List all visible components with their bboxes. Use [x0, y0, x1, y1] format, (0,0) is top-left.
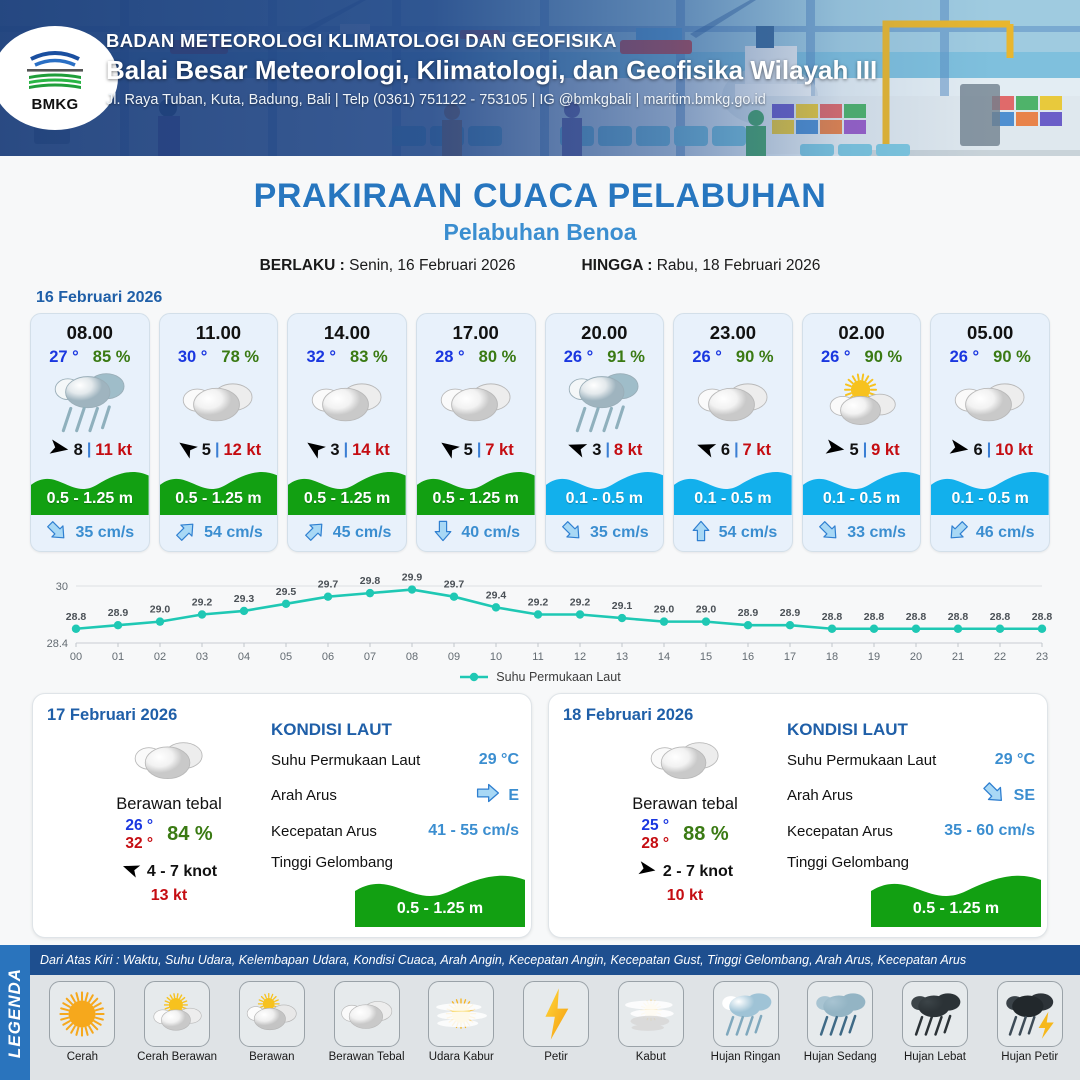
- card-temperature: 26 °: [564, 348, 594, 367]
- sea-condition-row: Suhu Permukaan Laut 29 °C: [271, 749, 519, 771]
- weather-cloud-icon: [288, 369, 406, 435]
- sea-condition-label: Kecepatan Arus: [271, 823, 377, 840]
- weather-cloud-icon: [674, 369, 792, 435]
- current-direction-arrow-icon: [174, 519, 198, 548]
- svg-text:29.2: 29.2: [192, 597, 213, 609]
- berlaku-group: BERLAKU : Senin, 16 Februari 2026: [260, 257, 516, 275]
- legend-icon-row: Cerah Cerah Berawan Berawan: [30, 975, 1080, 1080]
- svg-text:29.0: 29.0: [654, 604, 675, 616]
- svg-text:23: 23: [1036, 651, 1048, 663]
- legend-item: Kabut: [604, 981, 697, 1063]
- sst-chart: 3028.40001020304050607080910111213141516…: [28, 564, 1052, 669]
- header-text-block: BADAN METEOROLOGI KLIMATOLOGI DAN GEOFIS…: [106, 30, 877, 108]
- wind-direction-arrow-icon: [637, 859, 657, 884]
- card-temp-humidity: 30 ° 78 %: [160, 348, 278, 367]
- weather-cloud-icon: [69, 734, 269, 791]
- day-panel: 17 Februari 2026 Berawan tebal 26 ° 32 °…: [32, 693, 532, 938]
- legend-item-label: Hujan Sedang: [804, 1051, 877, 1063]
- card-temperature: 28 °: [435, 348, 465, 367]
- day-panel: 18 Februari 2026 Berawan tebal 25 ° 28 °…: [548, 693, 1048, 938]
- card-wave-band: 0.5 - 1.25 m: [288, 463, 406, 515]
- legend-item: Hujan Petir: [983, 981, 1076, 1063]
- sea-condition-value: 41 - 55 cm/s: [428, 822, 519, 840]
- sea-condition-label: Suhu Permukaan Laut: [271, 752, 420, 769]
- card-wind-row: 6 | 7 kt: [674, 435, 792, 465]
- berlaku-label: BERLAKU :: [260, 257, 345, 274]
- svg-text:28.9: 28.9: [738, 607, 759, 619]
- current-direction-arrow-icon: [946, 519, 970, 548]
- legend-item-label: Udara Kabur: [429, 1051, 494, 1063]
- wind-speed: 5: [850, 441, 859, 460]
- panel-gust: 13 kt: [69, 887, 269, 905]
- card-temperature: 30 °: [178, 348, 208, 367]
- forecast-card-row: 08.00 27 ° 85 % 8 | 11 kt 0.5 - 1.25 m: [0, 313, 1080, 552]
- svg-text:16: 16: [742, 651, 754, 663]
- port-name: Pelabuhan Benoa: [0, 219, 1080, 246]
- wind-direction-arrow-icon: [695, 437, 717, 464]
- svg-text:29.8: 29.8: [360, 575, 381, 587]
- sea-condition-label: Arah Arus: [271, 787, 337, 804]
- svg-text:29.0: 29.0: [150, 604, 171, 616]
- card-time: 14.00: [288, 314, 406, 344]
- svg-text:28.8: 28.8: [990, 611, 1011, 623]
- legend-lightning-icon: [523, 981, 589, 1047]
- panel-sea-block: KONDISI LAUT Suhu Permukaan Laut 29 °C A…: [271, 720, 519, 873]
- panel-temp-min: 25 °: [641, 817, 669, 835]
- svg-text:30: 30: [56, 581, 68, 593]
- svg-text:28.8: 28.8: [948, 611, 969, 623]
- legend-item: Berawan: [225, 981, 318, 1063]
- legend-item-label: Hujan Lebat: [904, 1051, 966, 1063]
- legend-side-label: LEGENDA: [5, 967, 25, 1057]
- current-speed: 54 cm/s: [204, 524, 263, 542]
- wind-separator: |: [215, 441, 219, 459]
- legend-item: Hujan Lebat: [889, 981, 982, 1063]
- wave-height: 0.1 - 0.5 m: [931, 490, 1049, 508]
- panel-wave-band: 0.5 - 1.25 m: [871, 865, 1041, 927]
- card-current-row: 54 cm/s: [674, 515, 792, 551]
- page-header: BMKG BADAN METEOROLOGI KLIMATOLOGI DAN G…: [0, 0, 1080, 156]
- svg-text:29.9: 29.9: [402, 572, 423, 584]
- svg-text:08: 08: [406, 651, 418, 663]
- card-wind-row: 3 | 8 kt: [546, 435, 664, 465]
- card-current-row: 35 cm/s: [546, 515, 664, 551]
- svg-text:02: 02: [154, 651, 166, 663]
- current-speed: 33 cm/s: [847, 524, 906, 542]
- gust-speed: 11 kt: [95, 441, 132, 460]
- legend-sun-icon: [49, 981, 115, 1047]
- sea-conditions-title: KONDISI LAUT: [271, 720, 519, 740]
- panel-temp-max: 28 °: [641, 835, 669, 853]
- current-speed: 54 cm/s: [719, 524, 778, 542]
- legend-item-label: Cerah Berawan: [137, 1051, 217, 1063]
- weather-cloud-icon: [417, 369, 535, 435]
- legend-item: Cerah: [36, 981, 129, 1063]
- card-wind-row: 5 | 9 kt: [803, 435, 921, 465]
- svg-text:28.4: 28.4: [47, 638, 68, 650]
- svg-text:28.8: 28.8: [822, 611, 843, 623]
- legend-item-label: Petir: [544, 1051, 568, 1063]
- card-wind-row: 6 | 10 kt: [931, 435, 1049, 465]
- svg-text:11: 11: [532, 651, 543, 663]
- current-speed: 46 cm/s: [976, 524, 1035, 542]
- forecast-card: 05.00 26 ° 90 % 6 | 10 kt 0.1 - 0.5 m 46…: [930, 313, 1050, 552]
- svg-text:05: 05: [280, 651, 292, 663]
- card-temperature: 32 °: [306, 348, 336, 367]
- wind-direction-arrow-icon: [824, 437, 846, 464]
- panel-wind-speed: 4 - 7 knot: [147, 863, 217, 881]
- wind-speed: 6: [974, 441, 983, 460]
- weather-rain-cloud-icon: [31, 369, 149, 435]
- panel-gust: 10 kt: [585, 887, 785, 905]
- legend-item: Hujan Ringan: [699, 981, 792, 1063]
- wave-height: 0.5 - 1.25 m: [417, 490, 535, 508]
- svg-text:18: 18: [826, 651, 838, 663]
- forecast-card: 14.00 32 ° 83 % 3 | 14 kt 0.5 - 1.25 m 4…: [287, 313, 407, 552]
- svg-text:21: 21: [952, 651, 964, 663]
- card-temp-humidity: 26 ° 90 %: [674, 348, 792, 367]
- sea-condition-row: Arah Arus E: [271, 780, 519, 811]
- sea-condition-value: 29 °C: [995, 751, 1035, 769]
- svg-text:15: 15: [700, 651, 712, 663]
- card-time: 20.00: [546, 314, 664, 344]
- wind-direction-arrow-icon: [948, 437, 970, 464]
- hingga-label: HINGGA :: [581, 257, 652, 274]
- wind-direction-arrow-icon: [304, 437, 326, 464]
- legend-item: Petir: [510, 981, 603, 1063]
- forecast-card: 23.00 26 ° 90 % 6 | 7 kt 0.1 - 0.5 m 54 …: [673, 313, 793, 552]
- card-wave-band: 0.1 - 0.5 m: [674, 463, 792, 515]
- card-wave-band: 0.5 - 1.25 m: [417, 463, 535, 515]
- wind-separator: |: [734, 441, 738, 459]
- sea-condition-value: SE: [1014, 787, 1035, 805]
- berlaku-value: Senin, 16 Februari 2026: [349, 257, 515, 274]
- sea-condition-row: Suhu Permukaan Laut 29 °C: [787, 749, 1035, 771]
- card-temperature: 26 °: [692, 348, 722, 367]
- card-humidity: 90 %: [865, 348, 903, 367]
- card-wave-band: 0.5 - 1.25 m: [31, 463, 149, 515]
- svg-text:19: 19: [868, 651, 880, 663]
- panel-left-block: Berawan tebal 26 ° 32 ° 84 % 4 - 7 knot …: [69, 734, 269, 905]
- svg-text:29.0: 29.0: [696, 604, 717, 616]
- legend-item-label: Berawan: [249, 1051, 294, 1063]
- wave-height: 0.1 - 0.5 m: [803, 490, 921, 508]
- wind-direction-arrow-icon: [176, 437, 198, 464]
- gust-speed: 7 kt: [743, 441, 771, 460]
- card-current-row: 45 cm/s: [288, 515, 406, 551]
- legend-item: Udara Kabur: [415, 981, 508, 1063]
- forecast-date-label: 16 Februari 2026: [36, 289, 1080, 307]
- card-humidity: 90 %: [993, 348, 1031, 367]
- card-humidity: 80 %: [479, 348, 517, 367]
- office-name: Balai Besar Meteorologi, Klimatologi, da…: [106, 55, 877, 86]
- wind-speed: 5: [464, 441, 473, 460]
- legend-item-label: Berawan Tebal: [329, 1051, 405, 1063]
- card-wind-row: 8 | 11 kt: [31, 435, 149, 465]
- legend-item: Berawan Tebal: [320, 981, 413, 1063]
- svg-text:20: 20: [910, 651, 922, 663]
- panel-left-block: Berawan tebal 25 ° 28 ° 88 % 2 - 7 knot …: [585, 734, 785, 905]
- panel-temp-max: 32 °: [125, 835, 153, 853]
- svg-text:29.7: 29.7: [444, 579, 465, 591]
- panel-wave-height: 0.5 - 1.25 m: [871, 900, 1041, 918]
- panel-wave-band: 0.5 - 1.25 m: [355, 865, 525, 927]
- page-title: PRAKIRAAN CUACA PELABUHAN: [0, 177, 1080, 216]
- svg-text:29.4: 29.4: [486, 589, 507, 601]
- card-humidity: 91 %: [607, 348, 645, 367]
- wave-height: 0.5 - 1.25 m: [31, 490, 149, 508]
- forecast-card: 17.00 28 ° 80 % 5 | 7 kt 0.5 - 1.25 m 40…: [416, 313, 536, 552]
- card-current-row: 54 cm/s: [160, 515, 278, 551]
- validity-row: BERLAKU : Senin, 16 Februari 2026 HINGGA…: [0, 257, 1080, 275]
- panel-wind-speed: 2 - 7 knot: [663, 863, 733, 881]
- chart-legend-swatch: [459, 671, 489, 683]
- card-wave-band: 0.1 - 0.5 m: [931, 463, 1049, 515]
- gust-speed: 10 kt: [995, 441, 1033, 460]
- card-time: 05.00: [931, 314, 1049, 344]
- wind-direction-arrow-icon: [438, 437, 460, 464]
- chart-legend-label: Suhu Permukaan Laut: [496, 670, 620, 684]
- svg-text:06: 06: [322, 651, 334, 663]
- gust-speed: 9 kt: [871, 441, 899, 460]
- wave-height: 0.5 - 1.25 m: [160, 490, 278, 508]
- forecast-card: 08.00 27 ° 85 % 8 | 11 kt 0.5 - 1.25 m: [30, 313, 150, 552]
- legend-haze-icon: [428, 981, 494, 1047]
- sea-conditions-title: KONDISI LAUT: [787, 720, 1035, 740]
- current-speed: 35 cm/s: [75, 524, 134, 542]
- svg-text:28.8: 28.8: [864, 611, 885, 623]
- wave-height: 0.5 - 1.25 m: [288, 490, 406, 508]
- svg-text:29.1: 29.1: [612, 600, 633, 612]
- card-current-row: 33 cm/s: [803, 515, 921, 551]
- panel-humidity: 88 %: [683, 823, 729, 846]
- sea-condition-row: Arah Arus SE: [787, 780, 1035, 811]
- svg-text:28.9: 28.9: [108, 607, 129, 619]
- card-time: 11.00: [160, 314, 278, 344]
- svg-text:29.2: 29.2: [570, 597, 591, 609]
- current-direction-arrow-icon: [475, 780, 501, 811]
- card-wind-row: 5 | 7 kt: [417, 435, 535, 465]
- card-temp-humidity: 27 ° 85 %: [31, 348, 149, 367]
- sea-condition-row: Kecepatan Arus 41 - 55 cm/s: [271, 820, 519, 842]
- card-humidity: 83 %: [350, 348, 388, 367]
- svg-text:22: 22: [994, 651, 1006, 663]
- wind-separator: |: [987, 441, 991, 459]
- svg-text:10: 10: [490, 651, 502, 663]
- card-humidity: 85 %: [93, 348, 131, 367]
- wave-height: 0.1 - 0.5 m: [546, 490, 664, 508]
- sst-chart-svg: 3028.40001020304050607080910111213141516…: [28, 564, 1052, 669]
- card-humidity: 78 %: [221, 348, 259, 367]
- svg-text:09: 09: [448, 651, 460, 663]
- weather-cloud-icon: [160, 369, 278, 435]
- panel-wave-height: 0.5 - 1.25 m: [355, 900, 525, 918]
- legend-caption: Dari Atas Kiri : Waktu, Suhu Udara, Kele…: [40, 953, 1074, 967]
- wind-separator: |: [477, 441, 481, 459]
- card-temp-humidity: 32 ° 83 %: [288, 348, 406, 367]
- legend-sun-cloud-more-icon: [239, 981, 305, 1047]
- card-wave-band: 0.5 - 1.25 m: [160, 463, 278, 515]
- current-direction-arrow-icon: [431, 519, 455, 548]
- card-temp-humidity: 28 ° 80 %: [417, 348, 535, 367]
- legend-cloud-icon: [334, 981, 400, 1047]
- legend-item-label: Kabut: [636, 1051, 666, 1063]
- card-time: 02.00: [803, 314, 921, 344]
- wind-separator: |: [863, 441, 867, 459]
- hingga-value: Rabu, 18 Februari 2026: [657, 257, 821, 274]
- gust-speed: 14 kt: [352, 441, 390, 460]
- card-temp-humidity: 26 ° 90 %: [931, 348, 1049, 367]
- card-temperature: 26 °: [950, 348, 980, 367]
- weather-rain-cloud-icon: [546, 369, 664, 435]
- svg-text:12: 12: [574, 651, 586, 663]
- panel-temps: 26 ° 32 ° 84 %: [69, 817, 269, 853]
- sea-condition-row: Kecepatan Arus 35 - 60 cm/s: [787, 820, 1035, 842]
- sea-condition-label: Suhu Permukaan Laut: [787, 752, 936, 769]
- bmkg-logo-mark: [21, 43, 89, 95]
- card-humidity: 90 %: [736, 348, 774, 367]
- legend-rain-moderate-icon: [807, 981, 873, 1047]
- svg-text:28.9: 28.9: [780, 607, 801, 619]
- current-direction-arrow-icon: [303, 519, 327, 548]
- panel-wind-row: 2 - 7 knot: [585, 859, 785, 884]
- current-direction-arrow-icon: [560, 519, 584, 548]
- legend-rain-light-icon: [713, 981, 779, 1047]
- svg-text:17: 17: [784, 651, 796, 663]
- panel-wind-row: 4 - 7 knot: [69, 859, 269, 884]
- gust-speed: 8 kt: [614, 441, 642, 460]
- card-time: 23.00: [674, 314, 792, 344]
- card-temp-humidity: 26 ° 91 %: [546, 348, 664, 367]
- wind-speed: 6: [721, 441, 730, 460]
- legend-item-label: Hujan Petir: [1001, 1051, 1058, 1063]
- current-direction-arrow-icon: [981, 780, 1007, 811]
- svg-text:29.2: 29.2: [528, 597, 549, 609]
- svg-text:29.5: 29.5: [276, 586, 297, 598]
- legend-footer: LEGENDA Dari Atas Kiri : Waktu, Suhu Uda…: [0, 945, 1080, 1080]
- panel-temps: 25 ° 28 ° 88 %: [585, 817, 785, 853]
- svg-text:29.3: 29.3: [234, 593, 255, 605]
- legend-fog-icon: [618, 981, 684, 1047]
- legend-sun-cloud-icon: [144, 981, 210, 1047]
- gust-speed: 7 kt: [485, 441, 513, 460]
- legend-side-tab: LEGENDA: [0, 945, 30, 1080]
- svg-text:04: 04: [238, 651, 250, 663]
- panel-condition: Berawan tebal: [69, 795, 269, 814]
- card-wave-band: 0.1 - 0.5 m: [546, 463, 664, 515]
- sea-condition-label: Kecepatan Arus: [787, 823, 893, 840]
- contact-info: Jl. Raya Tuban, Kuta, Badung, Bali | Tel…: [106, 92, 877, 108]
- current-direction-arrow-icon: [689, 519, 713, 548]
- current-direction-arrow-icon: [45, 519, 69, 548]
- svg-text:29.7: 29.7: [318, 579, 339, 591]
- svg-text:03: 03: [196, 651, 208, 663]
- wind-direction-arrow-icon: [566, 437, 588, 464]
- wind-speed: 3: [330, 441, 339, 460]
- wind-speed: 8: [74, 441, 83, 460]
- panel-humidity: 84 %: [167, 823, 213, 846]
- legend-rain-thunder-icon: [997, 981, 1063, 1047]
- weather-cloud-icon: [931, 369, 1049, 435]
- forecast-card: 20.00 26 ° 91 % 3 | 8 kt 0.1 - 0.5 m: [545, 313, 665, 552]
- forecast-card: 02.00 26 ° 90 % 5 | 9 kt 0.1 - 0.5 m: [802, 313, 922, 552]
- wave-height: 0.1 - 0.5 m: [674, 490, 792, 508]
- wind-direction-arrow-icon: [121, 859, 141, 884]
- card-wind-row: 3 | 14 kt: [288, 435, 406, 465]
- current-speed: 40 cm/s: [461, 524, 520, 542]
- sea-condition-value: E: [508, 787, 519, 805]
- sea-condition-value: 35 - 60 cm/s: [944, 822, 1035, 840]
- panel-condition: Berawan tebal: [585, 795, 785, 814]
- wind-speed: 3: [592, 441, 601, 460]
- wind-speed: 5: [202, 441, 211, 460]
- card-temperature: 26 °: [821, 348, 851, 367]
- legend-item-label: Hujan Ringan: [711, 1051, 781, 1063]
- card-time: 17.00: [417, 314, 535, 344]
- current-speed: 45 cm/s: [333, 524, 392, 542]
- panel-temp-min: 26 °: [125, 817, 153, 835]
- daily-panels: 17 Februari 2026 Berawan tebal 26 ° 32 °…: [0, 693, 1080, 938]
- legend-item: Hujan Sedang: [794, 981, 887, 1063]
- current-direction-arrow-icon: [817, 519, 841, 548]
- svg-text:07: 07: [364, 651, 376, 663]
- current-speed: 35 cm/s: [590, 524, 649, 542]
- card-wind-row: 5 | 12 kt: [160, 435, 278, 465]
- wind-separator: |: [87, 441, 91, 459]
- card-temperature: 27 °: [49, 348, 79, 367]
- panel-sea-block: KONDISI LAUT Suhu Permukaan Laut 29 °C A…: [787, 720, 1035, 873]
- wind-direction-arrow-icon: [48, 437, 70, 464]
- agency-name: BADAN METEOROLOGI KLIMATOLOGI DAN GEOFIS…: [106, 30, 877, 52]
- gust-speed: 12 kt: [223, 441, 261, 460]
- card-current-row: 46 cm/s: [931, 515, 1049, 551]
- legend-item-label: Cerah: [67, 1051, 98, 1063]
- card-wave-band: 0.1 - 0.5 m: [803, 463, 921, 515]
- svg-text:01: 01: [112, 651, 124, 663]
- svg-text:28.8: 28.8: [906, 611, 927, 623]
- legend-item: Cerah Berawan: [131, 981, 224, 1063]
- weather-cloud-icon: [585, 734, 785, 791]
- legend-rain-heavy-icon: [902, 981, 968, 1047]
- svg-text:14: 14: [658, 651, 670, 663]
- card-time: 08.00: [31, 314, 149, 344]
- card-current-row: 35 cm/s: [31, 515, 149, 551]
- sea-condition-value: 29 °C: [479, 751, 519, 769]
- sea-condition-label: Arah Arus: [787, 787, 853, 804]
- svg-text:00: 00: [70, 651, 82, 663]
- weather-sun-cloud-icon: [803, 369, 921, 435]
- card-current-row: 40 cm/s: [417, 515, 535, 551]
- bmkg-logo-text: BMKG: [31, 96, 78, 113]
- chart-legend: Suhu Permukaan Laut: [0, 670, 1080, 684]
- wind-separator: |: [344, 441, 348, 459]
- wind-separator: |: [605, 441, 609, 459]
- card-temp-humidity: 26 ° 90 %: [803, 348, 921, 367]
- forecast-card: 11.00 30 ° 78 % 5 | 12 kt 0.5 - 1.25 m 5…: [159, 313, 279, 552]
- svg-text:28.8: 28.8: [1032, 611, 1052, 623]
- svg-text:28.8: 28.8: [66, 611, 87, 623]
- svg-text:13: 13: [616, 651, 628, 663]
- hingga-group: HINGGA : Rabu, 18 Februari 2026: [581, 257, 820, 275]
